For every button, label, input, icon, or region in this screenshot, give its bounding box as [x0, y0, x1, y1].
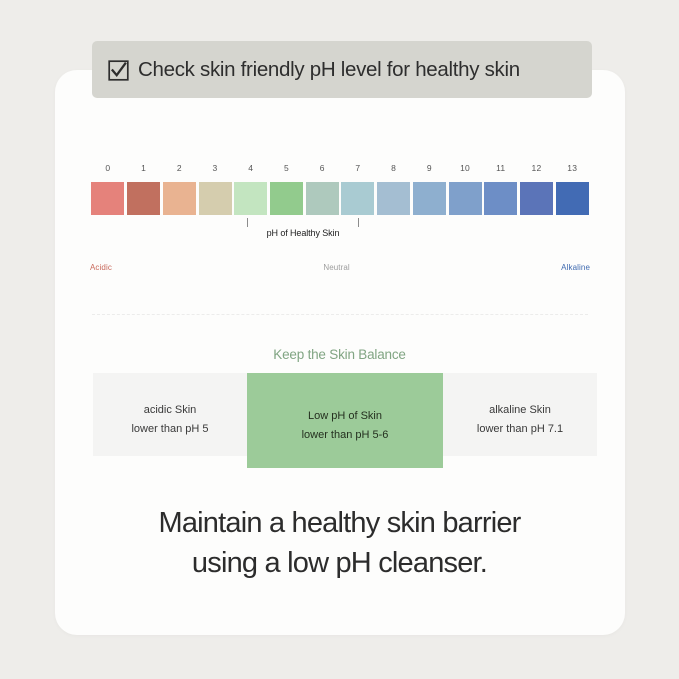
balance-heading: Keep the Skin Balance — [0, 347, 679, 362]
header-banner: Check skin friendly pH level for healthy… — [92, 41, 592, 98]
ph-swatch-cell — [447, 182, 483, 215]
ph-scale: 012345678910111213 — [90, 163, 590, 215]
ph-scale-number: 9 — [411, 163, 447, 177]
ph-swatch-cell — [340, 182, 376, 215]
ph-swatch-cell — [376, 182, 412, 215]
ph-legend-neutral: Neutral — [323, 263, 350, 272]
ph-scale-number: 5 — [269, 163, 305, 177]
ph-scale-swatches — [90, 182, 590, 215]
ph-swatch-cell — [554, 182, 590, 215]
ph-legend-acidic: Acidic — [90, 263, 112, 272]
ph-swatch — [234, 182, 267, 215]
ph-swatch-cell — [90, 182, 126, 215]
healthy-skin-bracket-area: pH of Healthy Skin — [90, 218, 590, 250]
ph-swatch — [520, 182, 553, 215]
ph-scale-number: 3 — [197, 163, 233, 177]
ph-swatch — [270, 182, 303, 215]
ph-scale-number: 11 — [483, 163, 519, 177]
ph-swatch-cell — [233, 182, 269, 215]
ph-swatch — [377, 182, 410, 215]
headline-line-2: using a low pH cleanser. — [0, 543, 679, 583]
ph-legend-alkaline: Alkaline — [561, 263, 590, 272]
ph-swatch — [556, 182, 589, 215]
ph-legend: Acidic Neutral Alkaline — [90, 263, 590, 272]
section-divider — [92, 314, 588, 316]
ph-swatch — [127, 182, 160, 215]
ph-scale-number: 4 — [233, 163, 269, 177]
skin-balance-boxes: acidic Skinlower than pH 5Low pH of Skin… — [93, 373, 587, 468]
ph-scale-number: 7 — [340, 163, 376, 177]
ph-swatch — [449, 182, 482, 215]
ph-scale-number: 12 — [519, 163, 555, 177]
headline: Maintain a healthy skin barrier using a … — [0, 503, 679, 583]
ph-swatch-cell — [197, 182, 233, 215]
ph-swatch-cell — [269, 182, 305, 215]
balance-box: alkaline Skinlower than pH 7.1 — [443, 373, 597, 456]
ph-swatch — [341, 182, 374, 215]
balance-box-highlighted: Low pH of Skinlower than pH 5-6 — [247, 373, 443, 468]
ph-swatch — [91, 182, 124, 215]
ph-swatch — [199, 182, 232, 215]
ph-scale-number: 2 — [161, 163, 197, 177]
ph-scale-number: 0 — [90, 163, 126, 177]
headline-line-1: Maintain a healthy skin barrier — [0, 503, 679, 543]
balance-box-subtitle: lower than pH 5-6 — [247, 426, 443, 445]
ph-swatch-cell — [126, 182, 162, 215]
balance-box: acidic Skinlower than pH 5 — [93, 373, 247, 456]
ph-scale-number: 8 — [376, 163, 412, 177]
header-title: Check skin friendly pH level for healthy… — [138, 58, 520, 82]
ph-scale-number: 13 — [554, 163, 590, 177]
healthy-skin-bracket-label: pH of Healthy Skin — [245, 227, 361, 239]
balance-box-title: Low pH of Skin — [247, 407, 443, 426]
ph-swatch-cell — [411, 182, 447, 215]
checkbox-checked-icon — [108, 60, 129, 81]
balance-box-subtitle: lower than pH 7.1 — [443, 420, 597, 439]
ph-swatch — [306, 182, 339, 215]
ph-swatch — [484, 182, 517, 215]
ph-scale-number: 10 — [447, 163, 483, 177]
ph-swatch-cell — [483, 182, 519, 215]
ph-scale-number: 6 — [304, 163, 340, 177]
ph-swatch — [413, 182, 446, 215]
ph-swatch-cell — [161, 182, 197, 215]
ph-swatch — [163, 182, 196, 215]
balance-box-title: acidic Skin — [93, 401, 247, 420]
ph-scale-number: 1 — [126, 163, 162, 177]
ph-scale-numbers: 012345678910111213 — [90, 163, 590, 177]
balance-box-subtitle: lower than pH 5 — [93, 420, 247, 439]
balance-box-title: alkaline Skin — [443, 401, 597, 420]
ph-swatch-cell — [519, 182, 555, 215]
ph-swatch-cell — [304, 182, 340, 215]
